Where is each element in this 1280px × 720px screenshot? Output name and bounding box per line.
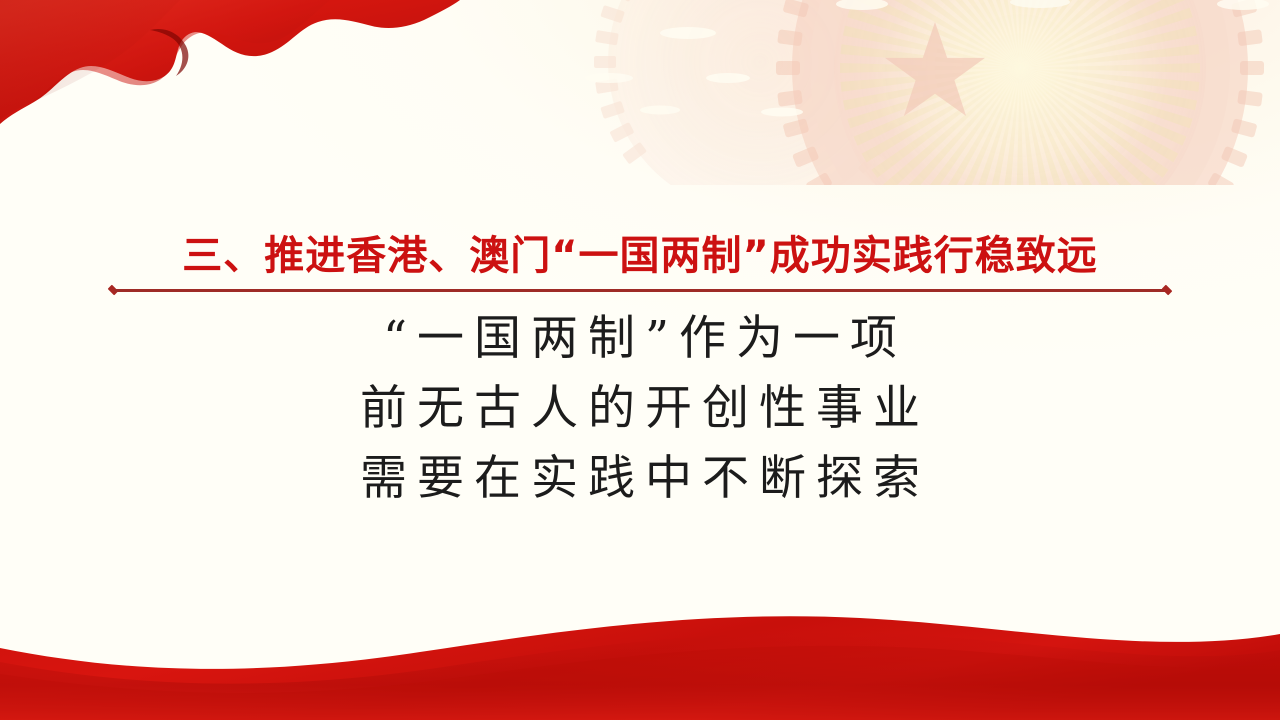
divider-rule — [114, 289, 1166, 292]
body-line-1: “一国两制”作为一项 — [0, 304, 1280, 374]
body-line-2: 前无古人的开创性事业 — [0, 374, 1280, 444]
page-title: 三、推进香港、澳门“一国两制”成功实践行稳致远 — [0, 233, 1280, 279]
body-text-block: “一国两制”作为一项 前无古人的开创性事业 需要在实践中不断探索 — [0, 304, 1280, 514]
presentation-slide: 三、推进香港、澳门“一国两制”成功实践行稳致远 “一国两制”作为一项 前无古人的… — [0, 0, 1280, 720]
slide-content: 三、推进香港、澳门“一国两制”成功实践行稳致远 “一国两制”作为一项 前无古人的… — [0, 0, 1280, 720]
body-line-3: 需要在实践中不断探索 — [0, 444, 1280, 514]
divider-diamond-right-icon — [1162, 285, 1173, 296]
title-divider — [108, 284, 1172, 296]
